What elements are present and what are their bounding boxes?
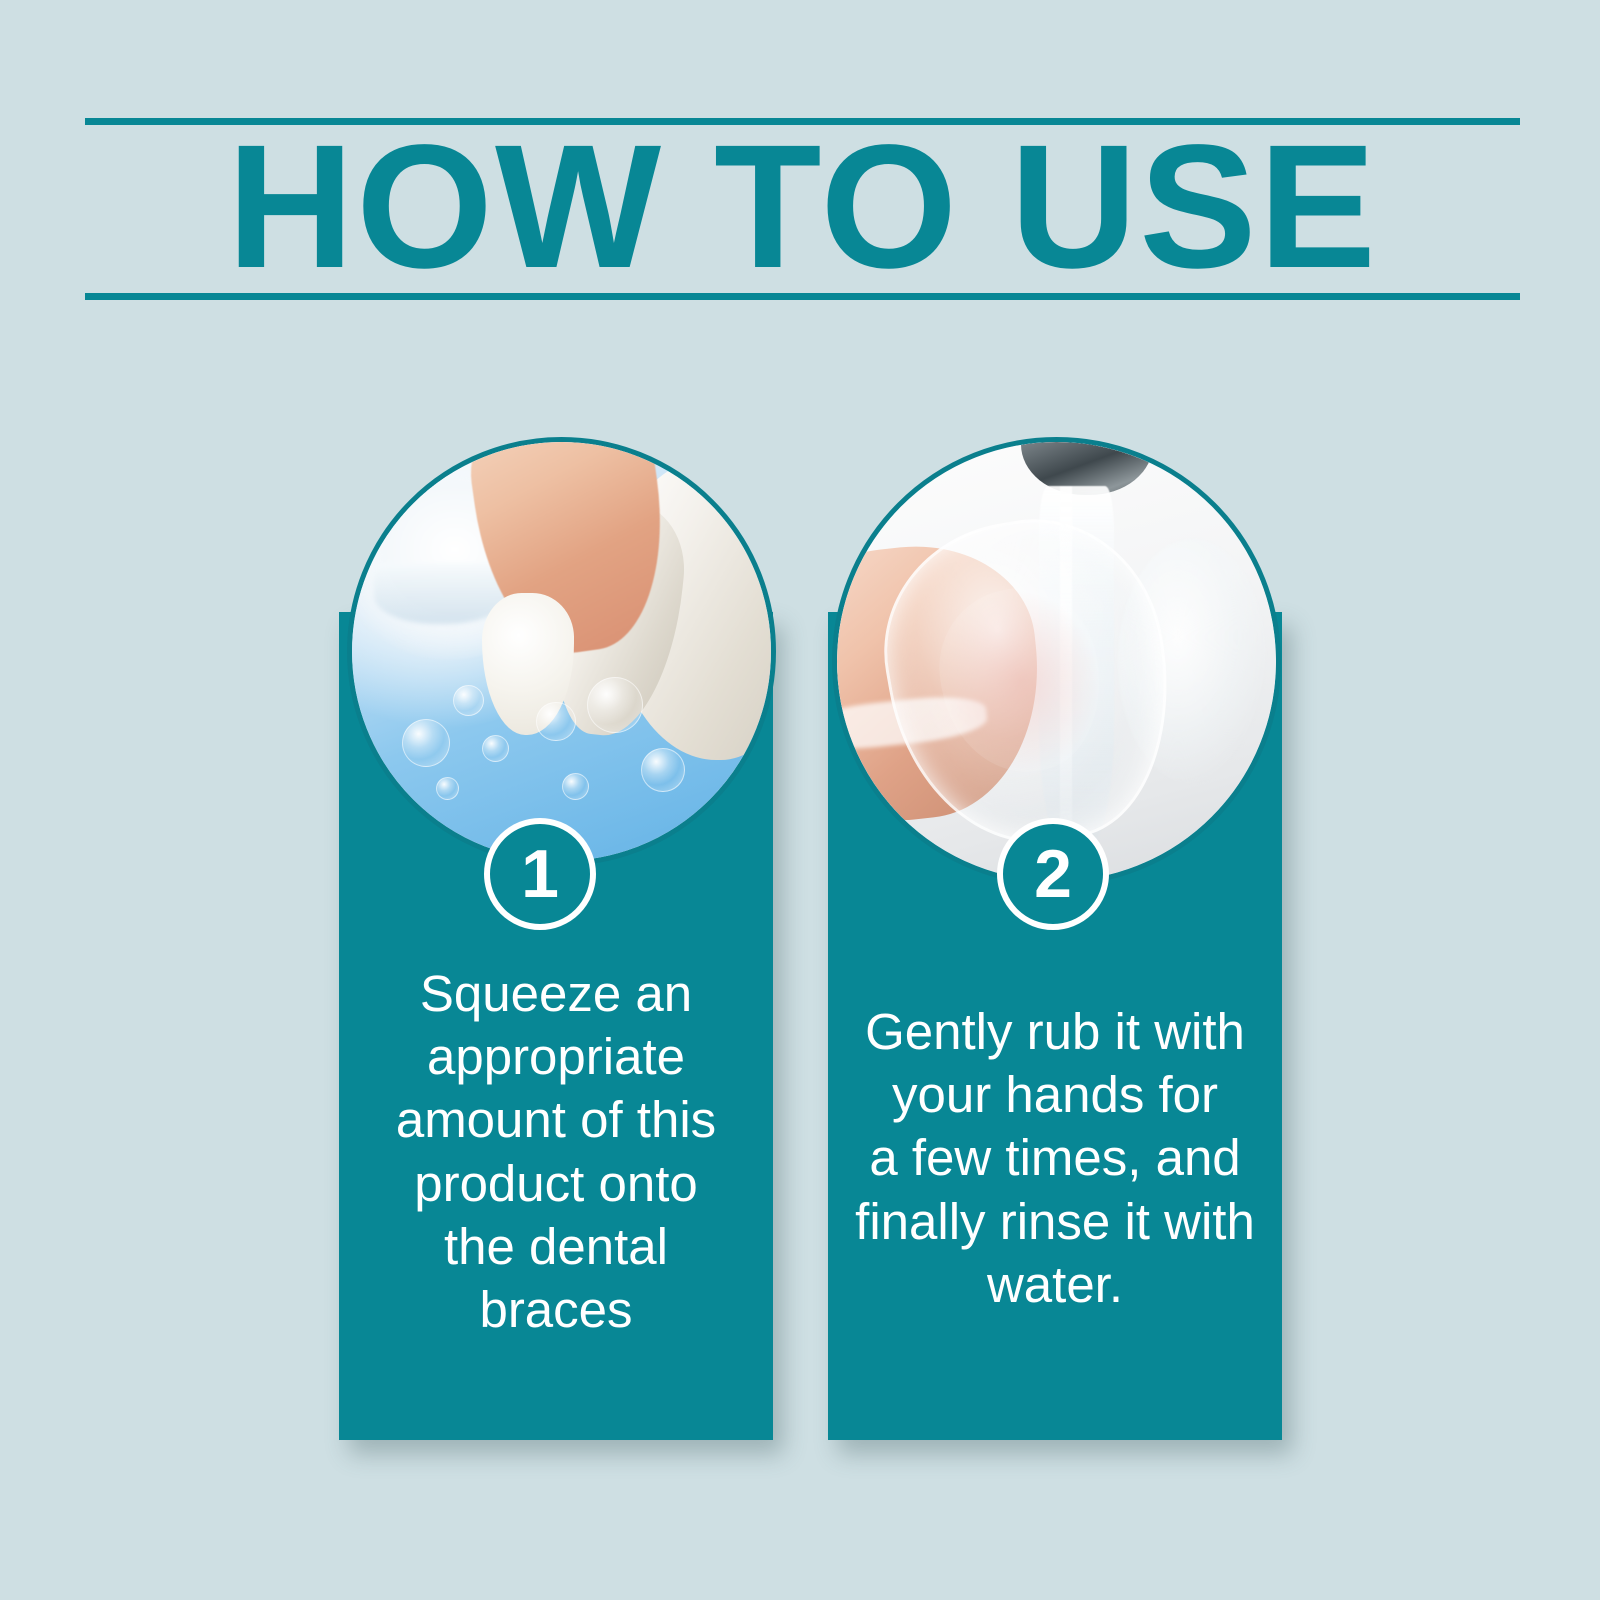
rinse-retainer-illustration (837, 442, 1276, 881)
bubble-icon (587, 677, 643, 733)
steps-container: 1 Squeeze an appropriate amount of this … (0, 0, 1600, 1600)
step-1-photo (347, 437, 776, 866)
bubble-icon (536, 702, 576, 742)
step-2-caption: Gently rub it with your hands for a few … (836, 1000, 1274, 1316)
foam-on-brace-illustration (352, 442, 771, 861)
bubble-icon (453, 685, 484, 716)
bubble-icon (641, 748, 685, 792)
bubble-icon (402, 719, 450, 767)
bubble-icon (482, 735, 509, 762)
step-1-caption: Squeeze an appropriate amount of this pr… (345, 962, 767, 1341)
step-2-photo-inner (837, 442, 1276, 881)
bubble-icon (436, 777, 459, 800)
how-to-use-infographic: HOW TO USE (0, 0, 1600, 1600)
bubble-icon (562, 773, 589, 800)
step-1-number-badge: 1 (484, 818, 596, 930)
step-2-number-badge: 2 (997, 818, 1109, 930)
step-1-photo-inner (352, 442, 771, 861)
